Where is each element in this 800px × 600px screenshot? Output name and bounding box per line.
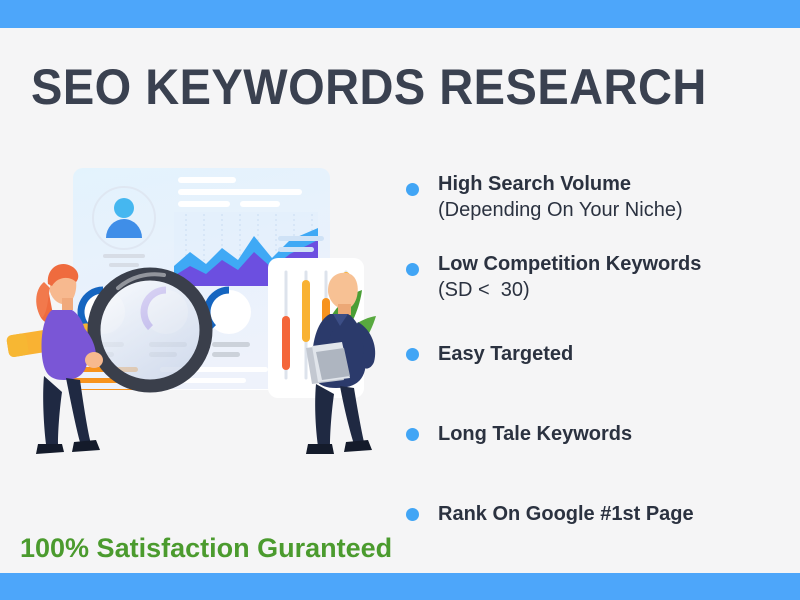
bullet-heading: Rank On Google #1st Page <box>438 503 694 525</box>
bullet-dot-icon <box>406 508 419 521</box>
bullet-heading: Easy Targeted <box>438 343 573 365</box>
top-accent-bar <box>0 0 800 28</box>
seo-research-illustration <box>0 140 400 470</box>
magnifier-icon <box>6 274 206 386</box>
guarantee-text: 100% Satisfaction Guranteed <box>20 531 392 565</box>
laptop-icon <box>306 342 350 384</box>
bottom-accent-bar <box>0 573 800 600</box>
bullet-heading: High Search Volume <box>438 173 631 195</box>
bullet-dot-icon <box>406 183 419 196</box>
bullet-dot-icon <box>406 348 419 361</box>
bullet-dot-icon <box>406 263 419 276</box>
bullet-dot-icon <box>406 428 419 441</box>
page-title: SEO KEYWORDS RESEARCH <box>31 58 707 116</box>
bullet-subtext: (Depending On Your Niche) <box>438 199 683 221</box>
bullet-subtext: (SD < 30) <box>438 279 530 301</box>
slide-canvas: SEO KEYWORDS RESEARCH 100% Satisfaction … <box>0 0 800 600</box>
bullet-heading: Low Competition Keywords <box>438 253 701 275</box>
bullet-heading: Long Tale Keywords <box>438 423 632 445</box>
